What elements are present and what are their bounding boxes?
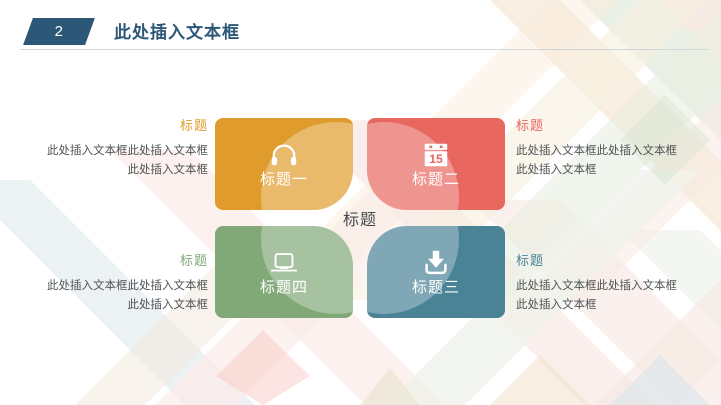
- panel-top-right[interactable]: 15 标题二: [367, 118, 505, 210]
- panel-label: 标题四: [260, 280, 308, 297]
- text-block-line: 此处插入文本框此处插入文本框: [8, 277, 208, 296]
- text-block-body: 此处插入文本框此处插入文本框 此处插入文本框: [516, 277, 716, 315]
- page-title: 此处插入文本框: [114, 18, 240, 43]
- text-block-top-right: 标题 此处插入文本框此处插入文本框 此处插入文本框: [516, 118, 716, 180]
- text-block-line: 此处插入文本框此处插入文本框: [8, 142, 208, 161]
- text-block-line: 此处插入文本框: [8, 296, 208, 315]
- calendar-icon: 15: [421, 140, 451, 170]
- laptop-icon: [269, 248, 299, 278]
- download-icon: [421, 248, 451, 278]
- quadrant-cluster: 标题一 15 标题二: [215, 118, 505, 318]
- text-block-heading: 标题: [8, 253, 208, 269]
- panel-label: 标题三: [412, 280, 460, 297]
- text-block-line: 此处插入文本框此处插入文本框: [516, 277, 716, 296]
- text-block-body: 此处插入文本框此处插入文本框 此处插入文本框: [8, 142, 208, 180]
- text-block-bottom-right: 标题 此处插入文本框此处插入文本框 此处插入文本框: [516, 253, 716, 315]
- center-label: 标题: [215, 210, 505, 226]
- panel-label: 标题二: [412, 172, 460, 189]
- text-block-heading: 标题: [8, 118, 208, 134]
- headphones-icon: [269, 140, 299, 170]
- text-block-top-left: 标题 此处插入文本框此处插入文本框 此处插入文本框: [8, 118, 208, 180]
- panel-bottom-right[interactable]: 标题三: [367, 226, 505, 318]
- slide-header: 2 此处插入文本框: [0, 0, 721, 60]
- panel-top-left[interactable]: 标题一: [215, 118, 353, 210]
- header-divider: [20, 49, 709, 50]
- text-block-line: 此处插入文本框: [516, 161, 716, 180]
- text-block-heading: 标题: [516, 118, 716, 134]
- svg-text:15: 15: [429, 152, 443, 166]
- presentation-slide: 2 此处插入文本框 标题一: [0, 0, 721, 405]
- text-block-body: 此处插入文本框此处插入文本框 此处插入文本框: [516, 142, 716, 180]
- text-block-line: 此处插入文本框: [516, 296, 716, 315]
- text-block-line: 此处插入文本框此处插入文本框: [516, 142, 716, 161]
- text-block-body: 此处插入文本框此处插入文本框 此处插入文本框: [8, 277, 208, 315]
- text-block-heading: 标题: [516, 253, 716, 269]
- panel-bottom-left[interactable]: 标题四: [215, 226, 353, 318]
- slide-number-label: 2: [28, 18, 90, 45]
- text-block-line: 此处插入文本框: [8, 161, 208, 180]
- text-block-bottom-left: 标题 此处插入文本框此处插入文本框 此处插入文本框: [8, 253, 208, 315]
- panel-label: 标题一: [260, 172, 308, 189]
